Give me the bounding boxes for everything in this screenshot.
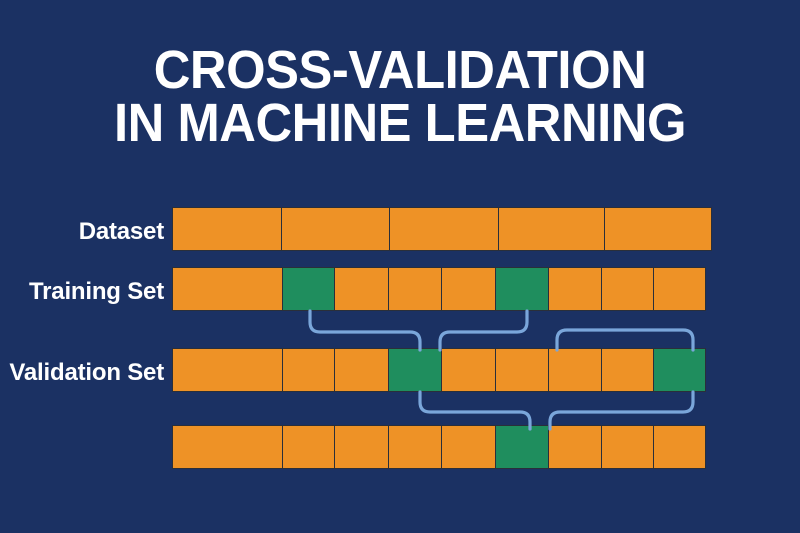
connector-training-to-validation-left — [310, 311, 420, 350]
row-label-training-set: Training Set — [29, 278, 164, 306]
training-block — [334, 348, 389, 392]
row-label-validation-set: Validation Set — [9, 359, 164, 387]
training-block — [498, 207, 606, 251]
training-block — [601, 348, 655, 392]
training-block — [441, 267, 496, 311]
validation-set-row — [172, 348, 718, 392]
validation-block — [495, 267, 550, 311]
page-title: CROSS-VALIDATION IN MACHINE LEARNING — [0, 44, 800, 150]
training-block — [601, 425, 655, 469]
training-block — [172, 207, 282, 251]
validation-block — [388, 348, 443, 392]
training-block — [441, 425, 496, 469]
connector-training-to-validation-mid — [440, 311, 527, 350]
connector-validation-to-fold-left — [420, 392, 530, 429]
training-block — [495, 348, 550, 392]
connector-training-to-validation-right — [557, 330, 693, 350]
row-label-dataset: Dataset — [79, 218, 164, 246]
training-block — [548, 425, 602, 469]
dataset-row — [172, 207, 718, 251]
training-block — [282, 425, 336, 469]
validation-block — [282, 267, 336, 311]
validation-block — [495, 425, 550, 469]
training-set-row — [172, 267, 718, 311]
training-block — [282, 348, 336, 392]
training-block — [441, 348, 496, 392]
connector-validation-to-fold-right — [550, 392, 693, 429]
training-block — [334, 267, 389, 311]
training-block — [653, 267, 706, 311]
training-block — [334, 425, 389, 469]
training-block — [548, 348, 602, 392]
training-block — [172, 267, 283, 311]
title-line-2: IN MACHINE LEARNING — [24, 97, 776, 150]
training-block — [388, 425, 443, 469]
training-block — [281, 207, 391, 251]
training-block — [653, 425, 706, 469]
title-line-1: CROSS-VALIDATION — [24, 44, 776, 97]
training-block — [604, 207, 712, 251]
training-block — [388, 267, 443, 311]
training-block — [389, 207, 499, 251]
training-block — [548, 267, 602, 311]
training-block — [172, 425, 283, 469]
fold-row-4 — [172, 425, 718, 469]
training-block — [601, 267, 655, 311]
validation-block — [653, 348, 706, 392]
infographic-canvas: CROSS-VALIDATION IN MACHINE LEARNING Dat… — [0, 0, 800, 533]
training-block — [172, 348, 283, 392]
